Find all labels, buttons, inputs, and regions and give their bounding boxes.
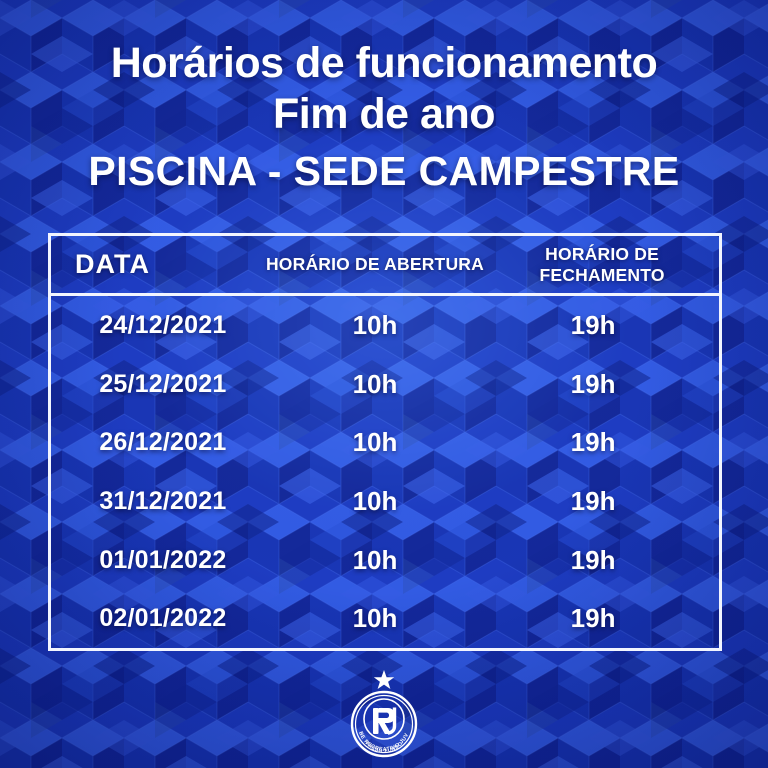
table-body: 24/12/2021 10h 19h 25/12/2021 10h 19h 26…: [51, 296, 719, 648]
table-header-row: DATA HORÁRIO DE ABERTURA HORÁRIO DE FECH…: [51, 236, 719, 293]
schedule-table: DATA HORÁRIO DE ABERTURA HORÁRIO DE FECH…: [48, 233, 722, 651]
title-line-3: PISCINA - SEDE CAMPESTRE: [0, 144, 768, 198]
cell-closing: 19h: [485, 603, 719, 634]
cell-opening: 10h: [265, 369, 485, 400]
table-row: 01/01/2022 10h 19h: [51, 531, 719, 590]
title-line-2: Fim de ano: [0, 89, 768, 140]
table-row: 26/12/2021 10h 19h: [51, 413, 719, 472]
table-row: 02/01/2022 10h 19h: [51, 589, 719, 648]
page-title: Horários de funcionamento Fim de ano PIS…: [0, 38, 768, 198]
column-header-opening: HORÁRIO DE ABERTURA: [265, 254, 485, 275]
cell-closing: 19h: [485, 427, 719, 458]
table-row: 24/12/2021 10h 19h: [51, 296, 719, 355]
cell-date: 25/12/2021: [51, 370, 265, 399]
cell-closing: 19h: [485, 486, 719, 517]
cell-date: 26/12/2021: [51, 428, 265, 457]
cell-date: 31/12/2021: [51, 487, 265, 516]
cell-closing: 19h: [485, 369, 719, 400]
table-row: 25/12/2021 10h 19h: [51, 355, 719, 414]
column-header-closing: HORÁRIO DE FECHAMENTO: [485, 244, 719, 286]
cell-opening: 10h: [265, 427, 485, 458]
cell-opening: 10h: [265, 545, 485, 576]
title-line-1: Horários de funcionamento: [0, 38, 768, 89]
cell-opening: 10h: [265, 486, 485, 517]
club-logo: CLUBE RECREATIVO JUVENIL PASSO FUNDO: [339, 668, 429, 760]
cell-closing: 19h: [485, 310, 719, 341]
cell-date: 01/01/2022: [51, 546, 265, 575]
table-row: 31/12/2021 10h 19h: [51, 472, 719, 531]
cell-opening: 10h: [265, 310, 485, 341]
cell-date: 02/01/2022: [51, 604, 265, 633]
star-icon: [374, 670, 394, 689]
column-header-date: DATA: [51, 249, 265, 280]
cell-date: 24/12/2021: [51, 311, 265, 340]
poster-canvas: Horários de funcionamento Fim de ano PIS…: [0, 0, 768, 768]
cell-closing: 19h: [485, 545, 719, 576]
cell-opening: 10h: [265, 603, 485, 634]
